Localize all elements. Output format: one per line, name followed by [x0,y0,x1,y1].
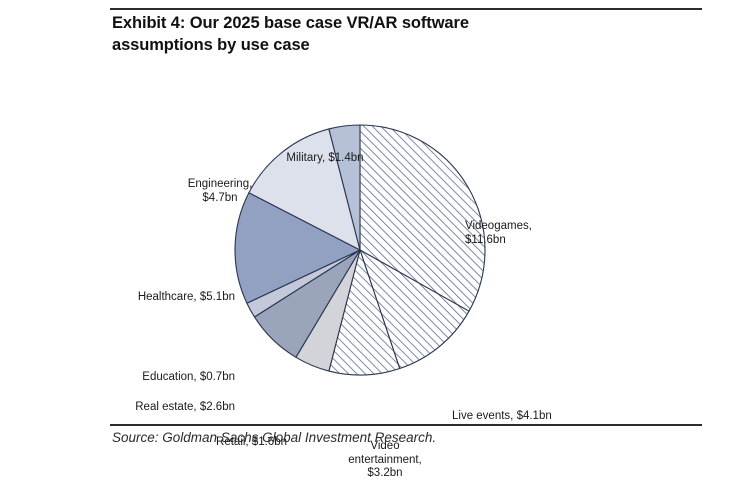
pie-chart-svg [0,60,735,420]
exhibit-chart-panel: Exhibit 4: Our 2025 base case VR/AR soft… [0,0,735,462]
slice-label-engineering: Engineering, $4.7bn [145,178,295,205]
slice-label-videogames: Videogames, $11.6bn [465,220,605,247]
slice-label-military: Military, $1.4bn [240,152,410,166]
slice-label-healthcare: Healthcare, $5.1bn [60,291,235,305]
slice-label-live-events: Live events, $4.1bn [452,410,602,424]
bottom-divider-rule [110,424,702,426]
source-note: Source: Goldman Sachs Global Investment … [112,430,436,445]
slice-label-education: Education, $0.7bn [55,371,235,385]
slice-label-real-estate: Real estate, $2.6bn [55,401,235,415]
page-title: Exhibit 4: Our 2025 base case VR/AR soft… [112,12,632,56]
pie-chart-area: Videogames, $11.6bn Military, $1.4bn Eng… [0,60,735,420]
top-divider-rule [110,8,702,10]
slice-label-video-entertainment: Video entertainment, $3.2bn [330,440,440,481]
